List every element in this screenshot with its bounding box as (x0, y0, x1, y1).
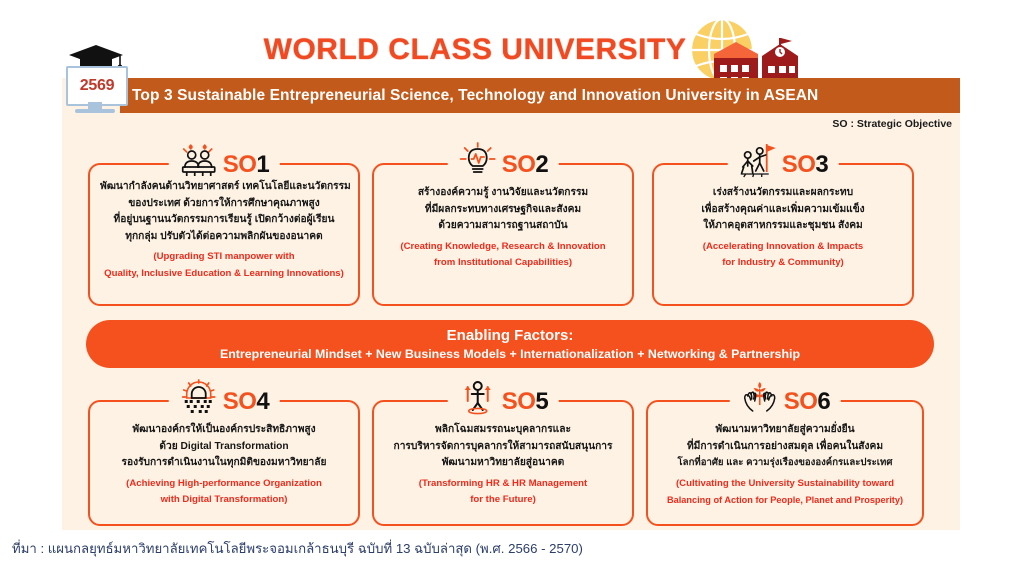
so5-english: (Transforming HR & HR Management for the… (384, 476, 622, 509)
source-footer: ที่มา : แผนกลยุทธ์มหาวิทยาลัยเทคโนโลยีพร… (12, 538, 583, 559)
so2-thai-line: สร้างองค์ความรู้ งานวิจัยและนวัตกรรม (384, 185, 622, 202)
year-badge: 2569 (62, 44, 128, 118)
so6-english: (Cultivating the University Sustainabili… (658, 476, 912, 509)
so6-en-line: (Cultivating the University Sustainabili… (658, 476, 912, 493)
person-growth-icon (458, 379, 498, 415)
so6-label: SO6 (784, 390, 831, 414)
enabling-title: Enabling Factors: (447, 326, 574, 345)
so4-heading: SO4 (169, 388, 280, 416)
enabling-subtitle: Entrepreneurial Mindset + New Business M… (220, 345, 800, 363)
so4-thai-line: ด้วย Digital Transformation (100, 439, 348, 456)
year-screen: 2569 (66, 66, 128, 106)
monitor-base (75, 109, 115, 113)
so1-label: SO1 (223, 153, 270, 177)
people-group-icon (179, 142, 219, 178)
so1-thai-line: ที่อยู่บนฐานนวัตกรรมการเรียนรู้ เปิดกว้า… (100, 212, 348, 229)
so3-thai-line: เร่งสร้างนวัตกรรมและผลกระทบ (664, 185, 902, 202)
objective-card-so3[interactable]: SO3 เร่งสร้างนวัตกรรมและผลกระทบ เพื่อสร้… (652, 163, 914, 306)
so2-en-line: from Institutional Capabilities) (384, 255, 622, 272)
so2-en-line: (Creating Knowledge, Research & Innovati… (384, 239, 622, 256)
so5-thai-line: พลิกโฉมสมรรถนะบุคลากรและ (384, 422, 622, 439)
year-value: 2569 (80, 77, 114, 95)
so3-label: SO3 (782, 153, 829, 177)
so6-thai-line: โลกที่อาศัย และ ความรุ่งเรืองขององค์กรแล… (658, 455, 912, 472)
so2-thai-line: ที่มีผลกระทบทางเศรษฐกิจและสังคม (384, 202, 622, 219)
hands-plant-icon (740, 379, 780, 415)
so5-body: พลิกโฉมสมรรถนะบุคลากรและ การบริหารจัดการ… (374, 402, 632, 517)
so1-thai-line: ทุกกลุ่ม ปรับตัวได้ต่อความพลิกผันของอนาค… (100, 229, 348, 246)
so3-heading: SO3 (728, 151, 839, 179)
so5-en-line: for the Future) (384, 492, 622, 509)
enabling-factors-band: Enabling Factors: Entrepreneurial Mindse… (86, 320, 934, 368)
so1-heading: SO1 (169, 151, 280, 179)
banner-text: Top 3 Sustainable Entrepreneurial Scienc… (120, 87, 818, 105)
so4-thai-line: รองรับการดำเนินงานในทุกมิติของมหาวิทยาลั… (100, 455, 348, 472)
lightbulb-idea-icon (458, 142, 498, 178)
objective-card-so1[interactable]: SO1 พัฒนากำลังคนด้านวิทยาศาสตร์ เทคโนโลย… (88, 163, 360, 306)
so6-heading: SO6 (730, 388, 841, 416)
banner-bar: Top 3 Sustainable Entrepreneurial Scienc… (120, 78, 960, 113)
so3-thai-line: ให้ภาคอุตสาหกรรมและชุมชน สังคม (664, 218, 902, 235)
so5-heading: SO5 (448, 388, 559, 416)
so4-en-line: with Digital Transformation) (100, 492, 348, 509)
so2-thai-line: ด้วยความสามารถฐานสถาบัน (384, 218, 622, 235)
page-title: WORLD CLASS UNIVERSITY (240, 33, 710, 67)
so1-en-line: (Upgrading STI manpower with (100, 249, 348, 266)
so2-label: SO2 (502, 153, 549, 177)
so2-english: (Creating Knowledge, Research & Innovati… (384, 239, 622, 272)
so3-english: (Accelerating Innovation & Impacts for I… (664, 239, 902, 272)
objective-card-so2[interactable]: SO2 สร้างองค์ความรู้ งานวิจัยและนวัตกรรม… (372, 163, 634, 306)
climbing-flag-icon (738, 142, 778, 178)
so5-thai-line: การบริหารจัดการบุคลากรให้สามารถสนับสนุนก… (384, 439, 622, 456)
so1-en-line: Quality, Inclusive Education & Learning … (100, 266, 348, 283)
so4-english: (Achieving High-performance Organization… (100, 476, 348, 509)
so5-label: SO5 (502, 390, 549, 414)
objective-card-so5[interactable]: SO5 พลิกโฉมสมรรถนะบุคลากรและ การบริหารจั… (372, 400, 634, 526)
so2-body: สร้างองค์ความรู้ งานวิจัยและนวัตกรรม ที่… (374, 165, 632, 280)
so1-thai-line: พัฒนากำลังคนด้านวิทยาศาสตร์ เทคโนโลยีและ… (100, 179, 348, 196)
objective-card-so6[interactable]: SO6 พัฒนามหาวิทยาลัยสู่ความยั่งยืน ที่มี… (646, 400, 924, 526)
so-legend: SO : Strategic Objective (832, 118, 952, 130)
so4-thai-line: พัฒนาองค์กรให้เป็นองค์กรประสิทธิภาพสูง (100, 422, 348, 439)
so5-en-line: (Transforming HR & HR Management (384, 476, 622, 493)
so4-body: พัฒนาองค์กรให้เป็นองค์กรประสิทธิภาพสูง ด… (90, 402, 358, 517)
so2-heading: SO2 (448, 151, 559, 179)
so6-body: พัฒนามหาวิทยาลัยสู่ความยั่งยืน ที่มีการด… (648, 402, 922, 517)
gear-digital-icon (179, 379, 219, 415)
so4-label: SO4 (223, 390, 270, 414)
so3-thai-line: เพื่อสร้างคุณค่าและเพิ่มความเข้มแข็ง (664, 202, 902, 219)
so3-en-line: for Industry & Community) (664, 255, 902, 272)
so1-thai-line: ของประเทศ ด้วยการให้การศึกษาคุณภาพสูง (100, 196, 348, 213)
so1-english: (Upgrading STI manpower with Quality, In… (100, 249, 348, 282)
so6-thai-line: พัฒนามหาวิทยาลัยสู่ความยั่งยืน (658, 422, 912, 439)
so6-en-line: Balancing of Action for People, Planet a… (658, 492, 912, 509)
objective-card-so4[interactable]: SO4 พัฒนาองค์กรให้เป็นองค์กรประสิทธิภาพส… (88, 400, 360, 526)
so1-body: พัฒนากำลังคนด้านวิทยาศาสตร์ เทคโนโลยีและ… (90, 165, 358, 290)
so4-en-line: (Achieving High-performance Organization (100, 476, 348, 493)
so6-thai-line: ที่มีการดำเนินการอย่างสมดุล เพื่อคนในสัง… (658, 439, 912, 456)
so5-thai-line: พัฒนามหาวิทยาลัยสู่อนาคต (384, 455, 622, 472)
so3-en-line: (Accelerating Innovation & Impacts (664, 239, 902, 256)
so3-body: เร่งสร้างนวัตกรรมและผลกระทบ เพื่อสร้างคุ… (654, 165, 912, 280)
